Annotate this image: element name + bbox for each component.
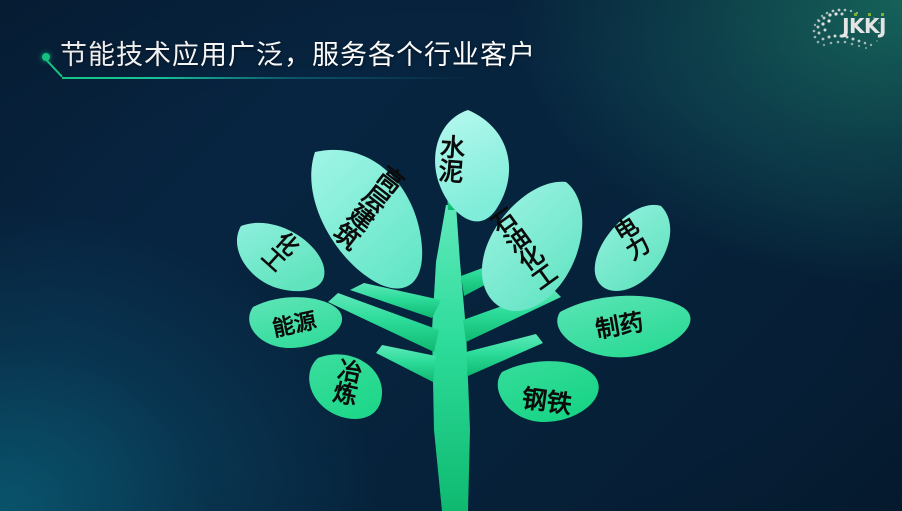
logo-accent-pip-2 — [868, 13, 871, 16]
slide-title-block: 节能技术应用广泛，服务各个行业客户 — [42, 36, 742, 92]
leaf-shape-yelian — [309, 354, 382, 419]
leaf-shape-gangtie — [498, 361, 599, 422]
leaf-shape-gaoceng — [311, 150, 422, 289]
logo-accent-pip-3 — [881, 13, 884, 16]
leaf-shape-zhiyao — [557, 296, 690, 358]
page-title: 节能技术应用广泛，服务各个行业客户 — [60, 36, 536, 76]
brand-logo: JKKJ — [804, 4, 890, 54]
leaf-shape-shuini — [435, 110, 509, 221]
logo-accent-pip-1 — [854, 13, 857, 16]
leaf-shape-dianli — [595, 205, 671, 291]
leaf-shape-huagong — [237, 223, 324, 291]
title-underline — [62, 77, 582, 79]
slide-canvas: 水泥 高层建筑 化工 能源 冶炼 石油化工 电力 制药 钢铁 节能技术应用广泛，… — [0, 0, 902, 511]
leaf-shape-nengyuan — [249, 297, 342, 348]
logo-wordmark: JKKJ — [842, 14, 886, 38]
